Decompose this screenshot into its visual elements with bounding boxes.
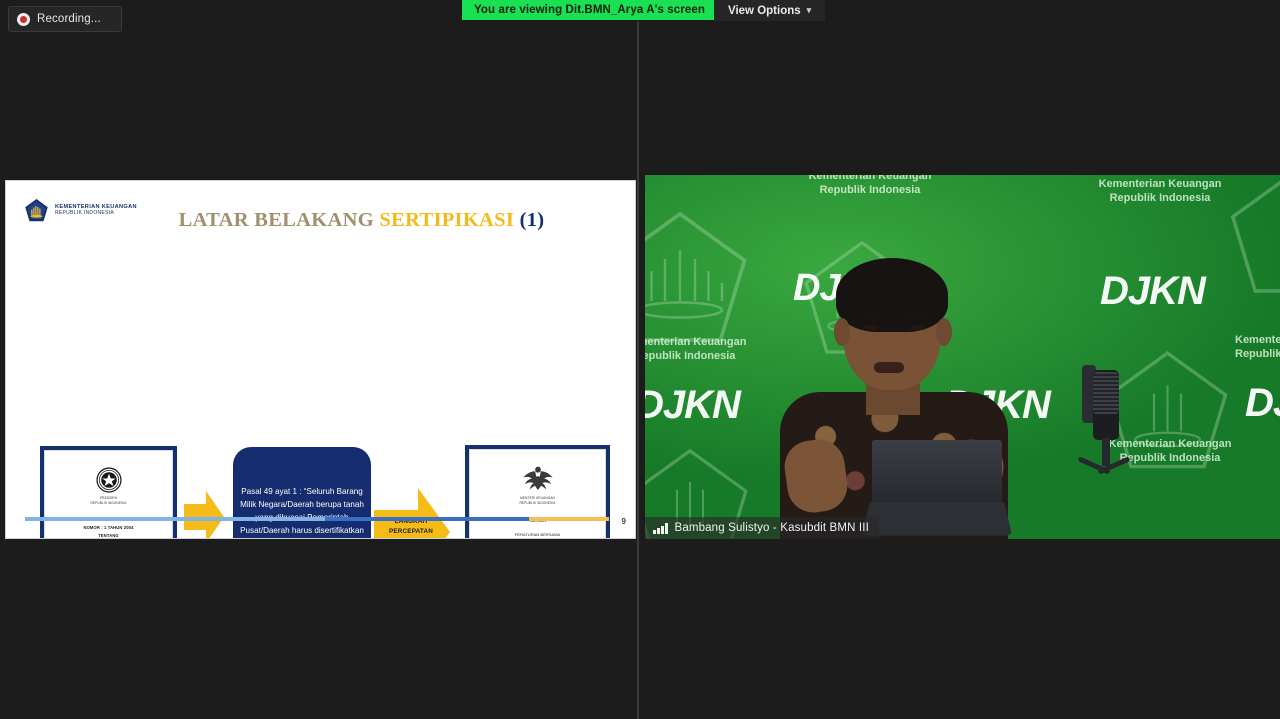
person-brow-right (907, 315, 927, 319)
doc2-line: PERATURAN BERSAMA (476, 531, 599, 539)
person-mouth (874, 362, 904, 373)
doc2-subtitle: MENTERI KEUANGAN REPUBLIK INDONESIA (520, 496, 556, 506)
panel-divider (637, 21, 639, 719)
person-eye-left (864, 325, 879, 330)
slide-footer-bar-blue (325, 517, 529, 521)
video-person (645, 175, 1280, 539)
shared-slide[interactable]: KEMENTERIAN KEUANGAN REPUBLIK INDONESIA … (5, 180, 636, 539)
microphone-grill (1093, 372, 1119, 414)
callout-pasal-49: Pasal 49 ayat 1 : “Seluruh Barang Milik … (233, 447, 371, 539)
participant-video-tile[interactable]: Kementerian Keuangan Republik Indonesia … (645, 175, 1280, 539)
garuda-emblem-icon (521, 463, 555, 493)
recording-indicator[interactable]: Recording... (8, 6, 122, 32)
tablet-screen (872, 440, 1002, 504)
doc2-body-top: SALINAN PERATURAN BERSAMA MENTERI KEUANG… (476, 511, 599, 539)
doc2-subtitle-line2: REPUBLIK INDONESIA (520, 501, 556, 506)
slide-page-number: 9 (622, 517, 626, 526)
signal-strength-icon (653, 523, 668, 534)
person-eye-right (910, 325, 925, 330)
meeting-top-bar: Recording... You are viewing Dit.BMN_Ary… (0, 0, 1280, 21)
person-ear-left (834, 318, 850, 346)
doc1-subtitle: PRESIDEN REPUBLIK INDONESIA (91, 496, 127, 506)
recording-label: Recording... (37, 13, 101, 25)
microphone-stem (1102, 438, 1110, 466)
document-card-uu: PRESIDEN REPUBLIK INDONESIA UNDANG-UNDAN… (40, 446, 177, 539)
meeting-screen-share-view: Recording... You are viewing Dit.BMN_Ary… (0, 0, 1280, 719)
chevron-down-icon: ▾ (807, 5, 812, 16)
tablet-stand (862, 502, 1012, 535)
screen-share-banner: You are viewing Dit.BMN_Arya A's screen (462, 0, 717, 20)
doc1-subtitle-line2: REPUBLIK INDONESIA (91, 501, 127, 506)
slide-title-part2: SERTIPIKASI (379, 209, 514, 231)
view-options-button[interactable]: View Options ▾ (714, 0, 825, 21)
person-hair (836, 258, 948, 332)
person-ear-right (936, 318, 952, 346)
view-options-label: View Options (728, 5, 801, 17)
participant-name-tag: Bambang Sulistyo - Kasubdit BMN III (645, 517, 879, 539)
slide-title-part3: (1) (514, 209, 544, 231)
arrow-label-line2: PERCEPATAN (380, 527, 442, 537)
record-icon (17, 13, 30, 26)
callout-text: Pasal 49 ayat 1 : “Seluruh Barang Milik … (240, 485, 364, 539)
slide-footer-bar-light-blue (25, 517, 325, 521)
participant-name-label: Bambang Sulistyo - Kasubdit BMN III (675, 522, 869, 534)
screen-share-banner-label: You are viewing Dit.BMN_Arya A's screen (474, 4, 705, 16)
document-card-peraturan-bersama: MENTERI KEUANGAN REPUBLIK INDONESIA SALI… (465, 445, 610, 539)
slide-title: LATAR BELAKANG SERTIPIKASI (1) (6, 209, 636, 232)
presidential-seal-icon (96, 467, 122, 493)
person-brow-left (861, 315, 881, 319)
doc1-line: TENTANG (51, 532, 166, 539)
arrow-right-icon-1 (184, 491, 224, 539)
slide-title-part1: LATAR BELAKANG (179, 209, 380, 231)
slide-footer-bar-gold (529, 517, 609, 521)
doc1-line: NOMOR : 1 TAHUN 2004 (51, 524, 166, 532)
